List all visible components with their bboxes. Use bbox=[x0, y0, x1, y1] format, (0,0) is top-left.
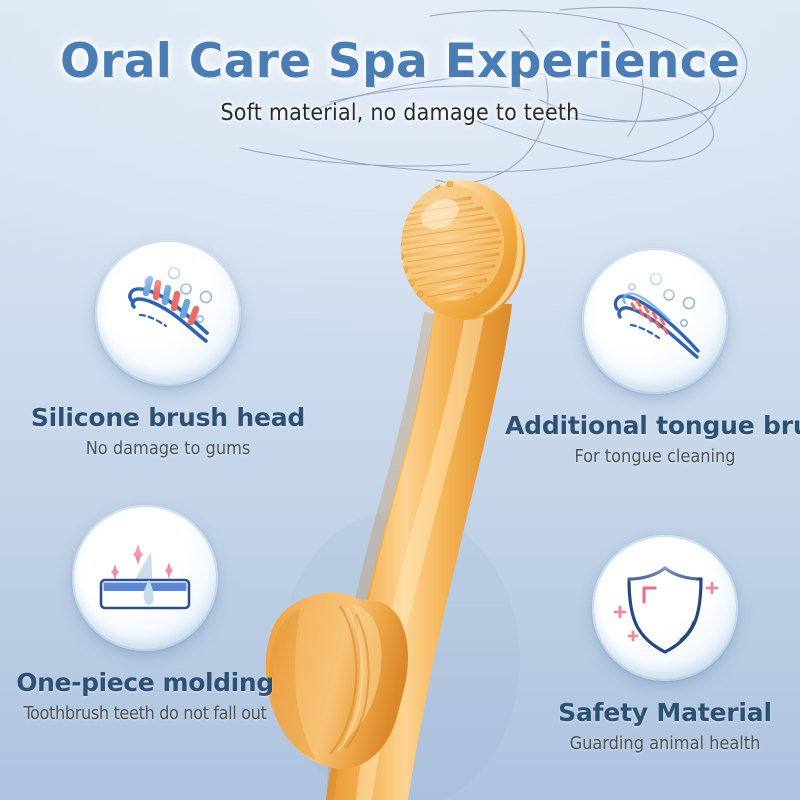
feature-additional-tongue-brush: Additional tongue brush For tongue clean… bbox=[505, 248, 800, 467]
poster-header: Oral Care Spa Experience Soft material, … bbox=[0, 0, 800, 126]
feature-one-piece-molding: One-piece molding Toothbrush teeth do no… bbox=[0, 505, 295, 724]
product-infographic-poster: Oral Care Spa Experience Soft material, … bbox=[0, 0, 800, 800]
feature-title: One-piece molding bbox=[0, 651, 295, 697]
feature-subtitle: For tongue cleaning bbox=[505, 440, 800, 467]
toothbrush-handle bbox=[326, 300, 512, 800]
droplet-in-base-icon bbox=[89, 522, 201, 634]
toothbrush-bristles-icon bbox=[112, 257, 224, 369]
feature-title: Silicone brush head bbox=[18, 386, 318, 432]
page-title: Oral Care Spa Experience bbox=[0, 0, 800, 89]
feature-safety-material: Safety Material Guarding animal health bbox=[515, 535, 800, 754]
shield-icon bbox=[609, 552, 721, 664]
page-subtitle: Soft material, no damage to teeth bbox=[0, 89, 800, 126]
tongue-brush-icon bbox=[599, 265, 711, 377]
feature-badge-circle bbox=[582, 248, 728, 394]
feature-badge-circle bbox=[95, 240, 241, 386]
feature-badge-circle bbox=[72, 505, 218, 651]
feature-subtitle: No damage to gums bbox=[18, 432, 318, 459]
feature-subtitle: Toothbrush teeth do not fall out bbox=[0, 697, 295, 724]
feature-subtitle: Guarding animal health bbox=[515, 727, 800, 754]
silicone-bristles bbox=[392, 178, 511, 307]
feature-badge-circle bbox=[592, 535, 738, 681]
feature-title: Safety Material bbox=[515, 681, 800, 727]
feature-silicone-brush-head: Silicone brush head No damage to gums bbox=[18, 240, 318, 459]
feature-title: Additional tongue brush bbox=[505, 394, 800, 440]
